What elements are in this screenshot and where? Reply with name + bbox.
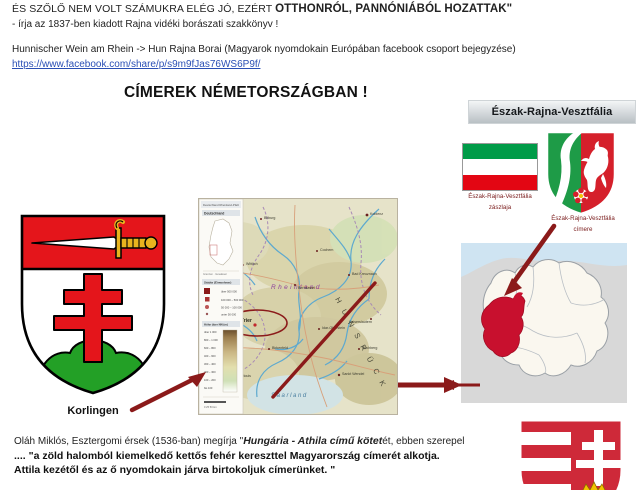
svg-text:Bernkastel: Bernkastel xyxy=(298,286,315,290)
map-legend-cities-title: Städte (Einwohner) xyxy=(204,280,231,284)
svg-text:über 1 000: über 1 000 xyxy=(204,330,217,334)
svg-text:Kaiserslautern: Kaiserslautern xyxy=(349,320,372,324)
bottom-line-1: Oláh Miklós, Esztergomi érsek (1536-ban)… xyxy=(14,435,465,447)
svg-text:Kirchberg: Kirchberg xyxy=(362,346,377,350)
svg-text:Koblenz: Koblenz xyxy=(370,212,383,216)
map-svg: Rheinland H U N S R Ü C K Saarland Coche… xyxy=(199,199,397,414)
nrw-coat-of-arms xyxy=(545,130,617,216)
svg-text:über 500 000: über 500 000 xyxy=(221,290,237,294)
svg-text:Bitburg: Bitburg xyxy=(264,216,275,220)
header-facebook-line: Hunnischer Wein am Rhein -> Hun Rajna Bo… xyxy=(12,44,516,55)
rhineland-map: Rheinland H U N S R Ü C K Saarland Coche… xyxy=(198,198,398,415)
arrow-arms-to-germany xyxy=(496,222,560,300)
svg-text:Sankt Wendel: Sankt Wendel xyxy=(342,372,365,376)
header-quote-bold: OTTHONRÓL, PANNÓNIÁBÓL HOZATTAK" xyxy=(275,3,512,15)
header-quote-line: ÉS SZŐLŐ NEM VOLT SZÁMUKRA ELÉG JÓ, EZÉR… xyxy=(12,3,512,15)
page-title: CÍMEREK NÉMETORSZÁGBAN ! xyxy=(124,84,368,102)
nrw-flag-white-band xyxy=(463,159,537,174)
bottom-line-1-title: Hungária - Athila című kötet xyxy=(243,435,382,447)
nrw-flag-green-band xyxy=(463,144,537,159)
bottom-line-3: Attila kezétől és az ő nyomdokain járva … xyxy=(14,464,335,476)
nrw-flag-caption-line1: Észak-Rajna-Vesztfália xyxy=(452,192,548,203)
svg-text:600 – 800: 600 – 800 xyxy=(204,346,216,350)
map-legend-header: Deutschland Rheinland-Pfalz xyxy=(203,203,240,207)
header-quote-plain: ÉS SZŐLŐ NEM VOLT SZÁMUKRA ELÉG JÓ, EZÉR… xyxy=(12,3,275,15)
hungary-arms-svg xyxy=(516,418,626,490)
map-legend-elevation-title: Höhe über NN (m) xyxy=(204,322,228,326)
svg-text:unter 50 000: unter 50 000 xyxy=(221,312,237,316)
nrw-flag-caption-line2: zászlaja xyxy=(452,203,548,214)
svg-text:Birkenfeld: Birkenfeld xyxy=(272,346,288,350)
svg-text:Wittlich: Wittlich xyxy=(246,262,258,266)
svg-text:300 – 400: 300 – 400 xyxy=(204,362,216,366)
arrow-korlingen-to-map xyxy=(128,368,212,416)
arpad-stripes-field xyxy=(516,418,571,490)
nrw-banner-label: Észak-Rajna-Vesztfália xyxy=(492,106,613,118)
svg-text:800 – 1 000: 800 – 1 000 xyxy=(204,338,218,342)
header-source-line: - írja az 1837-ben kiadott Rajna vidéki … xyxy=(12,19,278,30)
hungary-coat-of-arms xyxy=(516,418,626,490)
facebook-share-link[interactable]: https://www.facebook.com/share/p/s9m9fJa… xyxy=(12,59,260,70)
slide-canvas: ÉS SZŐLŐ NEM VOLT SZÁMUKRA ELÉG JÓ, EZÉR… xyxy=(0,0,640,480)
svg-text:400 – 600: 400 – 600 xyxy=(204,354,216,358)
nrw-arms-svg xyxy=(545,130,617,216)
svg-text:Cochem: Cochem xyxy=(320,248,333,252)
nrw-flag xyxy=(462,143,538,191)
nrw-flag-caption: Észak-Rajna-Vesztfália zászlaja xyxy=(452,192,548,213)
svg-text:100 000 – 500 000: 100 000 – 500 000 xyxy=(221,298,244,302)
nrw-banner: Észak-Rajna-Vesztfália xyxy=(468,100,636,124)
svg-text:Bad Kreuznach: Bad Kreuznach xyxy=(352,272,377,276)
arrow-left-tick xyxy=(440,375,486,395)
map-legend-title: Deutschland xyxy=(204,211,224,215)
nrw-flag-red-band xyxy=(463,175,537,190)
bottom-line-1-a: Oláh Miklós, Esztergomi érsek (1536-ban)… xyxy=(14,436,243,447)
bottom-line-1-c: ét, ebben szerepel xyxy=(382,436,464,447)
svg-text:Grenzen · Gewässer: Grenzen · Gewässer xyxy=(203,272,227,276)
svg-text:50 000 – 100 000: 50 000 – 100 000 xyxy=(221,305,242,309)
bottom-line-2: .... "a zöld halomból kiemelkedő kettős … xyxy=(14,450,440,462)
